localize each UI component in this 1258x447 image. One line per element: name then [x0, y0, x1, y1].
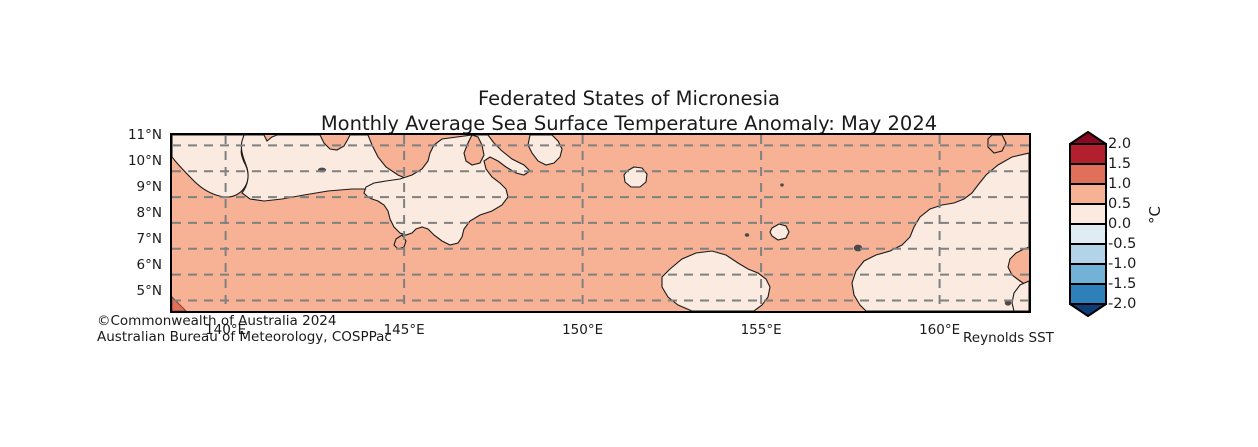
attribution-line-2: Australian Bureau of Meteorology, COSPPa… [97, 329, 392, 345]
island-marker-north [780, 183, 784, 186]
colorbar-swatches [1068, 130, 1108, 318]
colorbar [1068, 130, 1108, 318]
colorbar-unit-label: °C [1146, 206, 1164, 224]
colorbar-band--1.0--0.5 [1070, 244, 1106, 264]
ytick-label-9: 9°N [137, 179, 162, 195]
cbar-tick--1.0: -1.0 [1108, 256, 1136, 272]
xtick-label-155: 155°E [741, 322, 782, 338]
ytick-label-10: 10°N [128, 153, 162, 169]
colorbar-band-1.0-1.5 [1070, 164, 1106, 184]
island-marker-mid [745, 233, 749, 237]
copyright-attribution: ©Commonwealth of Australia 2024 Australi… [97, 313, 392, 345]
ytick-label-8: 8°N [137, 205, 162, 221]
cbar-tick-0.0: 0.0 [1108, 216, 1131, 232]
anomaly-contour-map [172, 135, 1029, 311]
colorbar-band--0.5-0.0 [1070, 224, 1106, 244]
colorbar-band-0.0-0.5 [1070, 204, 1106, 224]
colorbar-band--1.5--1.0 [1070, 264, 1106, 284]
colorbar-arrow-under [1070, 304, 1106, 316]
cbar-tick-0.5: 0.5 [1108, 196, 1131, 212]
ytick-label-7: 7°N [137, 231, 162, 247]
cbar-tick-1.5: 1.5 [1108, 156, 1131, 172]
cbar-tick--2.0: -2.0 [1108, 296, 1136, 312]
ytick-label-6: 6°N [137, 257, 162, 273]
colorbar-arrow-over [1070, 132, 1106, 144]
cbar-tick--0.5: -0.5 [1108, 236, 1136, 252]
cbar-tick-1.0: 1.0 [1108, 176, 1131, 192]
data-source-credit: Reynolds SST [963, 330, 1054, 346]
colorbar-band-0.5-1.0 [1070, 184, 1106, 204]
colorbar-band-1.5-2.0 [1070, 144, 1106, 164]
figure-canvas: Federated States of Micronesia Monthly A… [0, 0, 1258, 447]
attribution-line-1: ©Commonwealth of Australia 2024 [97, 313, 392, 329]
xtick-label-160: 160°E [919, 322, 960, 338]
colorbar-tick-labels: 2.0 1.5 1.0 0.5 0.0 -0.5 -1.0 -1.5 -2.0 [1108, 130, 1148, 318]
title-line-1: Federated States of Micronesia [0, 86, 1258, 111]
map-plot-area [170, 133, 1031, 313]
cbar-tick--1.5: -1.5 [1108, 276, 1136, 292]
latitude-axis: 11°N 10°N 9°N 8°N 7°N 6°N 5°N [96, 133, 162, 313]
xtick-label-150: 150°E [562, 322, 603, 338]
cbar-tick-2.0: 2.0 [1108, 136, 1131, 152]
chart-title: Federated States of Micronesia Monthly A… [0, 86, 1258, 136]
ytick-label-5: 5°N [137, 283, 162, 299]
ytick-label-11: 11°N [128, 127, 162, 143]
colorbar-band--2.0--1.5 [1070, 284, 1106, 304]
